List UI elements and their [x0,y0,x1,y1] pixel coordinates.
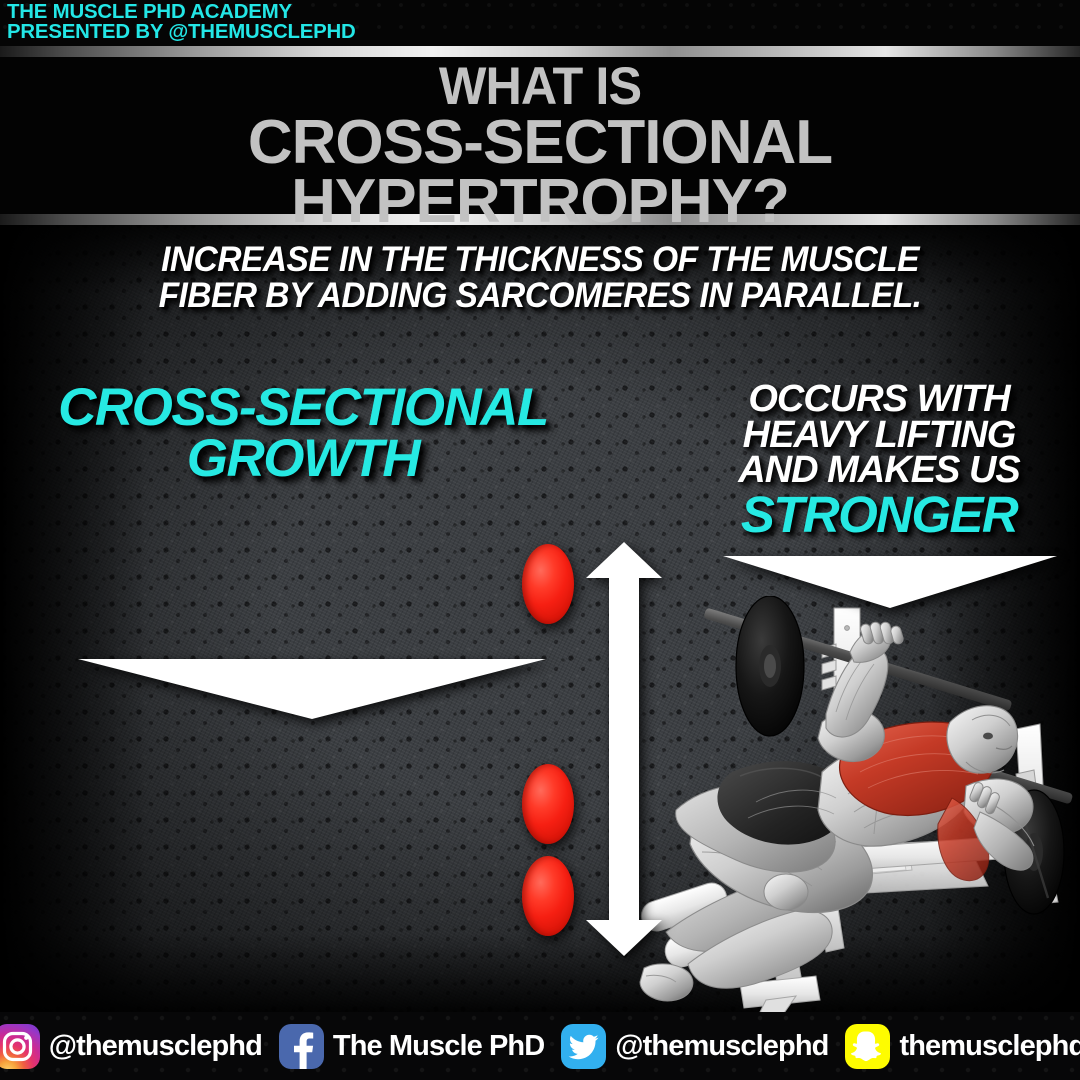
social-twitter[interactable]: @themusclephd [561,1024,828,1069]
snapchat-icon[interactable] [845,1024,890,1069]
social-facebook[interactable]: The Muscle PhD [279,1024,544,1069]
stronger-heading: OCCURS WITH HEAVY LIFTING AND MAKES US S… [694,382,1064,540]
right-heading-line-3: AND MAKES US [694,453,1064,489]
instagram-handle[interactable]: @themusclephd [49,1030,262,1063]
fiber-cross-section-cap [522,764,574,844]
silver-divider-top [0,46,1080,57]
right-heading-line-2: HEAVY LIFTING [694,418,1064,454]
growth-down-arrow [78,659,546,719]
muscle-fiber-after-2 [30,855,572,937]
fiber-cross-section-cap [522,856,574,936]
hand-grip-left [859,621,904,645]
social-snapchat[interactable]: themusclephd [845,1024,1080,1069]
facebook-icon[interactable] [279,1024,324,1069]
title-line-3: HYPERTROPHY? [0,173,1080,230]
social-footer: @themusclephd The Muscle PhD @themusclep… [0,1012,1080,1080]
right-heading-line-1: OCCURS WITH [694,382,1064,418]
infographic-canvas: THE MUSCLE PHD ACADEMY PRESENTED BY @THE… [0,0,1080,1080]
subtitle-line-1: INCREASE IN THE THICKNESS OF THE MUSCLE [22,242,1059,278]
muscle-fiber-before [30,543,572,625]
social-instagram[interactable]: @themusclephd [0,1024,262,1069]
definition-subtitle: INCREASE IN THE THICKNESS OF THE MUSCLE … [22,242,1059,313]
fiber-cross-section-cap [522,544,574,624]
bench-press-illustration [636,596,1080,1016]
instagram-icon[interactable] [0,1024,40,1069]
snapchat-handle[interactable]: themusclephd [899,1030,1080,1063]
stronger-down-arrow [723,556,1057,608]
academy-header-bar: THE MUSCLE PHD ACADEMY PRESENTED BY @THE… [0,0,1080,46]
title-line-2: CROSS-SECTIONAL [0,114,1080,171]
right-heading-emphasis: STRONGER [694,490,1064,539]
muscle-fiber-after-1 [30,763,572,845]
twitter-icon[interactable] [561,1024,606,1069]
left-heading-line-2: GROWTH [18,433,588,484]
left-heading-line-1: CROSS-SECTIONAL [18,382,588,433]
page-title: WHAT IS CROSS-SECTIONAL HYPERTROPHY? [0,57,1080,214]
academy-name: THE MUSCLE PHD ACADEMY [7,2,292,23]
twitter-handle[interactable]: @themusclephd [615,1030,828,1063]
facebook-handle[interactable]: The Muscle PhD [333,1030,544,1063]
title-line-1: WHAT IS [27,63,1053,112]
academy-presenter: PRESENTED BY @THEMUSCLEPHD [7,22,356,43]
cross-sectional-growth-heading: CROSS-SECTIONAL GROWTH [18,382,588,485]
thickness-double-arrow [586,542,662,956]
subtitle-line-2: FIBER BY ADDING SARCOMERES IN PARALLEL. [22,278,1059,314]
